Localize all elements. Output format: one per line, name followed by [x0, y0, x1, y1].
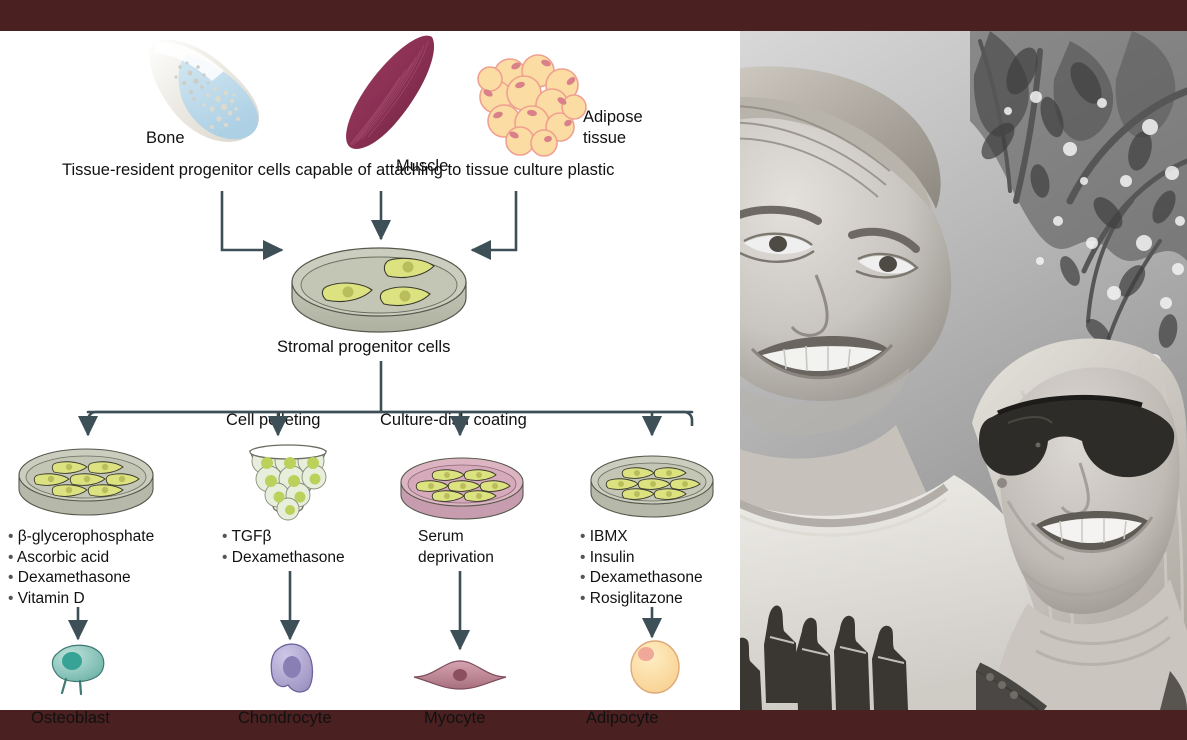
factor-item: Serum: [418, 528, 464, 545]
factor-item: Ascorbic acid: [17, 549, 109, 566]
photograph: [740, 31, 1187, 710]
factor-item: deprivation: [418, 549, 494, 566]
factor-item: Rosiglitazone: [590, 590, 683, 607]
factor-item: Dexamethasone: [232, 549, 345, 566]
myogenic-dish: [398, 451, 526, 525]
top-border-band: [0, 0, 1187, 31]
factor-item: Dexamethasone: [18, 569, 131, 586]
factor-item: Vitamin D: [18, 590, 85, 607]
muscle-illustration: [328, 33, 450, 153]
adipogenic-factor-list: • IBMX • Insulin • Dexamethasone • Rosig…: [580, 527, 703, 609]
factor-item: TGFβ: [231, 528, 271, 545]
caption-text: Tissue-resident progenitor cells capable…: [62, 161, 614, 180]
factor-item: IBMX: [590, 528, 628, 545]
stromal-dish-illustration: [288, 236, 470, 346]
osteogenic-factor-list: • β-glycerophosphate • Ascorbic acid • D…: [8, 527, 154, 609]
cell-pellet-cone: [236, 443, 340, 523]
chondrogenic-factor-list: • TGFβ • Dexamethasone: [222, 527, 345, 568]
chondrocyte-illustration: [262, 641, 324, 697]
diagram-canvas: Bone Muscle: [0, 31, 740, 710]
adipose-label-line1: Adipose: [583, 108, 643, 127]
adipocyte-illustration: [624, 639, 686, 697]
myocyte-illustration: [412, 653, 508, 695]
osteogenic-dish: [16, 441, 156, 521]
culture-dish-coating-label: Culture-dish coating: [380, 411, 527, 430]
myogenic-factor-list: Serum deprivation: [418, 527, 494, 568]
factor-item: Insulin: [590, 549, 635, 566]
myocyte-label: Myocyte: [424, 709, 485, 728]
cell-pelleting-label: Cell pelleting: [226, 411, 320, 430]
adipose-label-line2: tissue: [583, 129, 626, 148]
factor-item: β-glycerophosphate: [18, 528, 154, 545]
osteoblast-illustration: [44, 639, 118, 697]
adipose-illustration: [476, 51, 588, 157]
stromal-progenitor-label: Stromal progenitor cells: [277, 338, 450, 357]
chondrocyte-label: Chondrocyte: [238, 709, 332, 728]
figure-page: Bone Muscle: [0, 0, 1187, 740]
bone-label: Bone: [146, 129, 185, 148]
factor-item: Dexamethasone: [590, 569, 703, 586]
adipogenic-dish: [588, 449, 716, 523]
osteoblast-label: Osteoblast: [31, 709, 110, 728]
adipocyte-label: Adipocyte: [586, 709, 658, 728]
photo-content: [740, 31, 1187, 710]
